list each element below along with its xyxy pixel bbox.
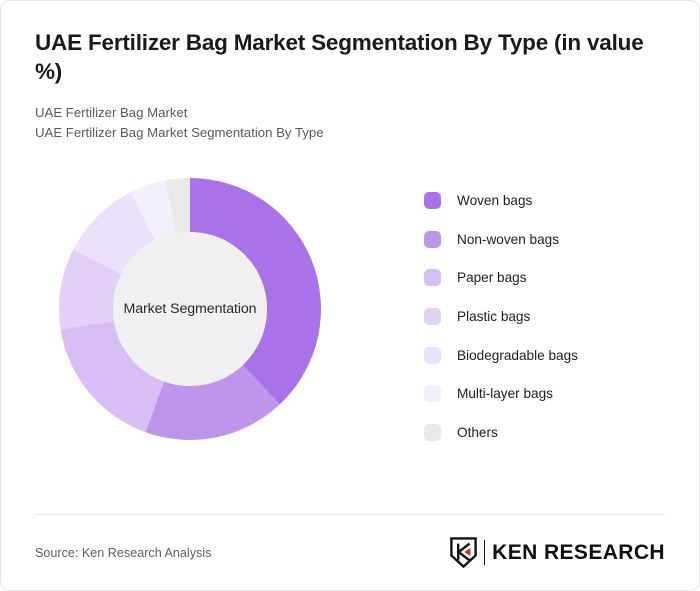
legend-item[interactable]: Biodegradable bags (424, 336, 665, 375)
legend-item[interactable]: Others (424, 413, 665, 452)
chart-subtitles: UAE Fertilizer Bag Market UAE Fertilizer… (35, 103, 665, 144)
ken-research-shield-icon (450, 537, 477, 568)
chart-card: UAE Fertilizer Bag Market Segmentation B… (0, 0, 700, 591)
subtitle-segmentation: UAE Fertilizer Bag Market Segmentation B… (35, 123, 665, 143)
legend-item[interactable]: Plastic bags (424, 297, 665, 336)
chart-body: Market Segmentation Woven bagsNon-woven … (1, 144, 699, 464)
footer-content: Source: Ken Research Analysis KEN RESEAR… (35, 537, 665, 568)
subtitle-market: UAE Fertilizer Bag Market (35, 103, 665, 123)
legend-item-label: Plastic bags (457, 309, 530, 324)
footer-divider (35, 514, 665, 515)
legend-color-swatch (424, 424, 441, 441)
chart-footer: Source: Ken Research Analysis KEN RESEAR… (1, 514, 699, 590)
source-note: Source: Ken Research Analysis (35, 546, 211, 560)
legend-color-swatch (424, 308, 441, 325)
legend-color-swatch (424, 347, 441, 364)
legend-item[interactable]: Non-woven bags (424, 220, 665, 259)
legend-color-swatch (424, 269, 441, 286)
legend-color-swatch (424, 231, 441, 248)
legend-item-label: Woven bags (457, 193, 532, 208)
chart-header: UAE Fertilizer Bag Market Segmentation B… (1, 1, 699, 144)
donut-hole (113, 232, 267, 386)
legend-item-label: Biodegradable bags (457, 348, 578, 363)
legend-item[interactable]: Paper bags (424, 259, 665, 298)
ken-research-logo: KEN RESEARCH (450, 537, 665, 568)
legend-item-label: Paper bags (457, 270, 527, 285)
legend-item[interactable]: Woven bags (424, 182, 665, 221)
logo-wordmark: KEN RESEARCH (492, 541, 665, 565)
legend-item[interactable]: Multi-layer bags (424, 374, 665, 413)
legend-item-label: Non-woven bags (457, 232, 559, 247)
legend-color-swatch (424, 385, 441, 402)
legend-item-label: Multi-layer bags (457, 386, 553, 401)
donut-chart: Market Segmentation (36, 154, 344, 464)
page-title: UAE Fertilizer Bag Market Segmentation B… (35, 29, 655, 87)
legend-color-swatch (424, 192, 441, 209)
logo-divider (484, 540, 486, 565)
donut-svg (36, 154, 344, 464)
legend-item-label: Others (457, 425, 498, 440)
chart-legend: Woven bagsNon-woven bagsPaper bagsPlasti… (424, 154, 665, 452)
